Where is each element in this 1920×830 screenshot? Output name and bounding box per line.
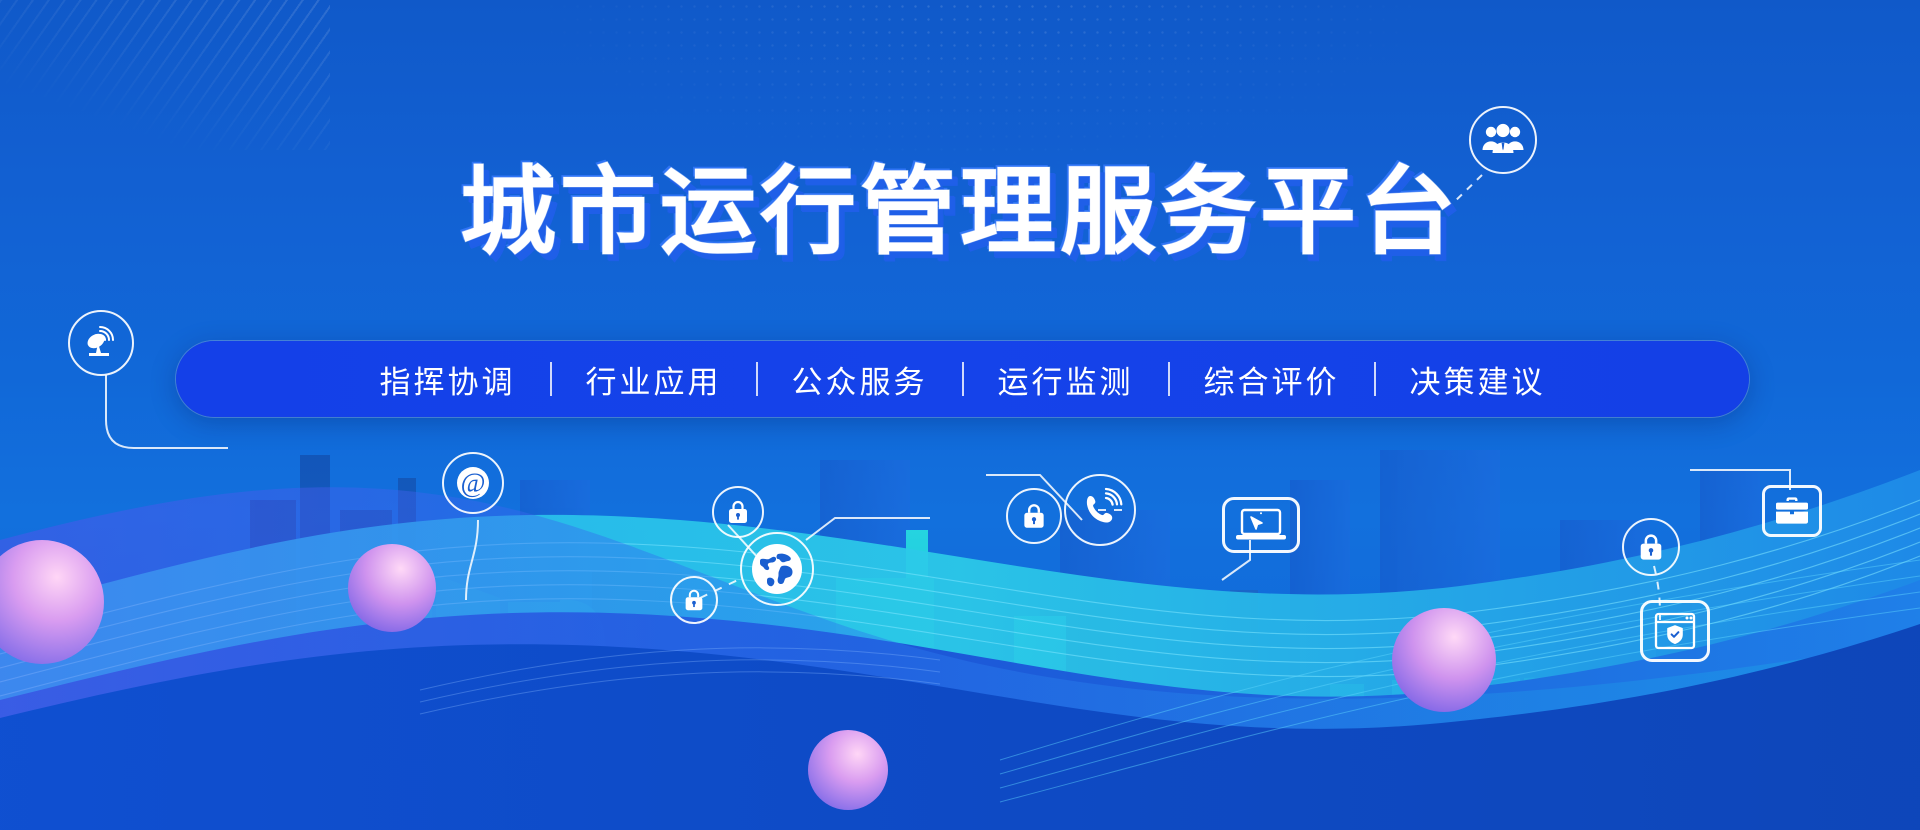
banner-root: @	[0, 0, 1920, 830]
nav-item-3[interactable]: 公众服务	[758, 357, 962, 402]
browser-shield-icon[interactable]	[1640, 600, 1710, 662]
at-sign-icon[interactable]: @	[442, 452, 504, 514]
lock-icon-2[interactable]	[670, 576, 718, 624]
briefcase-icon[interactable]	[1762, 485, 1822, 537]
lock-icon-3[interactable]	[1006, 488, 1062, 544]
lock-icon-4[interactable]	[1622, 518, 1680, 576]
banner-title-wrap: 城市运行管理服务平台	[0, 165, 1920, 261]
svg-text:@: @	[461, 468, 486, 498]
phone-signal-icon[interactable]	[1064, 474, 1136, 546]
satellite-dish-icon[interactable]	[68, 310, 134, 376]
laptop-cursor-icon[interactable]	[1222, 497, 1300, 553]
primary-nav-bar: 指挥协调行业应用公众服务运行监测综合评价决策建议	[176, 341, 1749, 417]
page-title: 城市运行管理服务平台	[460, 165, 1460, 261]
people-group-icon[interactable]	[1469, 106, 1537, 174]
nav-item-6[interactable]: 决策建议	[1376, 357, 1580, 402]
globe-icon[interactable]	[740, 532, 814, 606]
nav-item-1[interactable]: 指挥协调	[346, 357, 550, 402]
nav-item-2[interactable]: 行业应用	[552, 357, 756, 402]
lock-icon-1[interactable]	[712, 486, 764, 538]
nav-item-4[interactable]: 运行监测	[964, 357, 1168, 402]
nav-item-5[interactable]: 综合评价	[1170, 357, 1374, 402]
